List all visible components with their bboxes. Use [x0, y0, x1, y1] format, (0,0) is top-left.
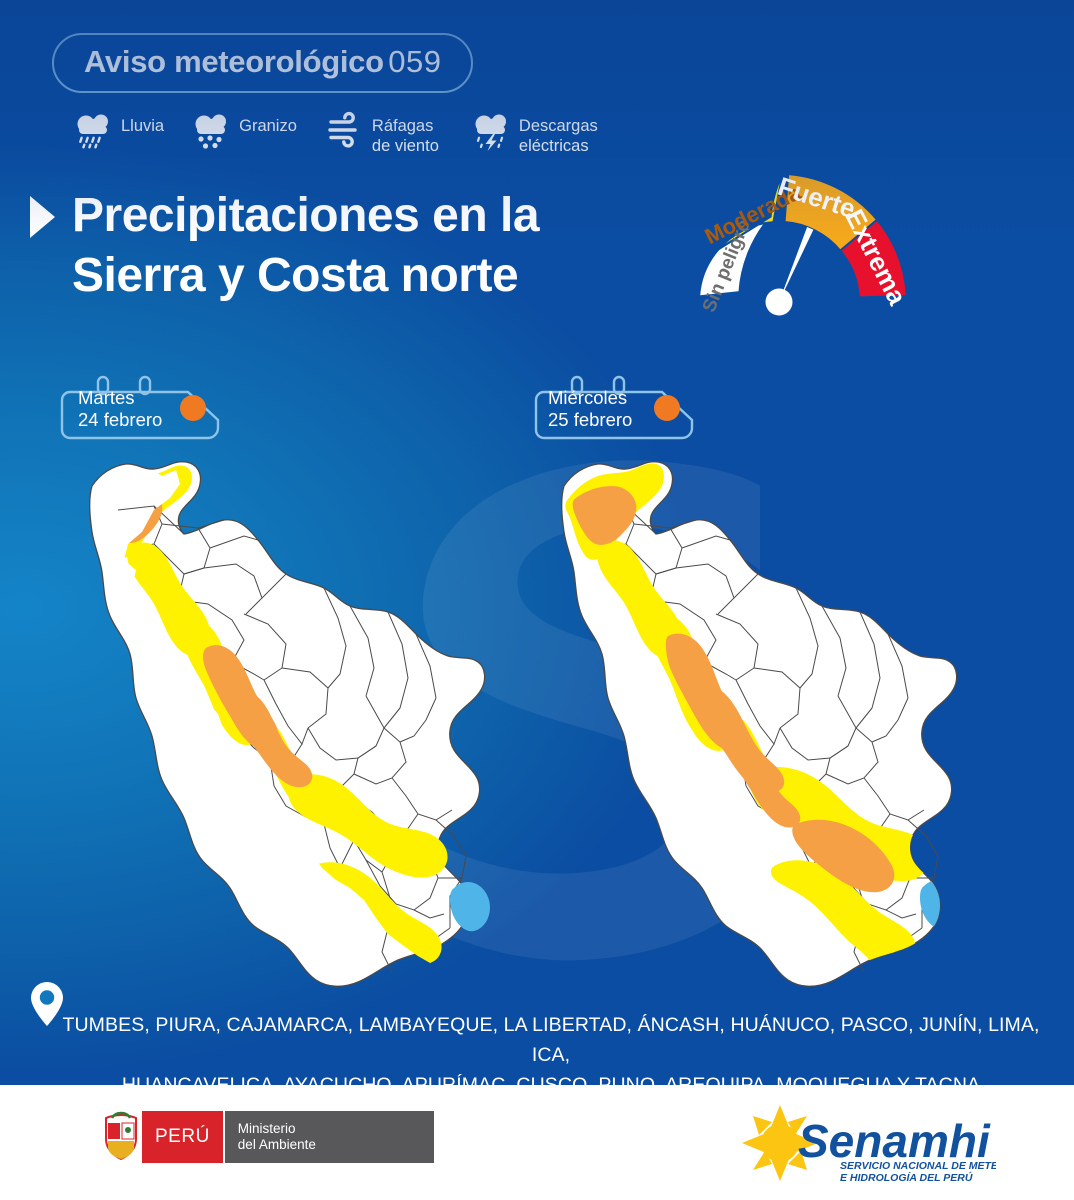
date-tag-text: Martes 24 febrero [78, 387, 162, 430]
advisory-number: 059 [388, 44, 441, 79]
lightning-cloud-icon [472, 111, 512, 151]
phenomenon-rafagas: Ráfagas de viento [325, 110, 444, 156]
footer-bar: PERÚ Ministerio del Ambiente [0, 1085, 1074, 1200]
ministry-line-1: Ministerio [238, 1121, 418, 1137]
date-tag-martes: Martes 24 febrero [60, 376, 223, 440]
date-label: 24 febrero [78, 409, 162, 430]
senamhi-logo: Senamhi SERVICIO NACIONAL DE METEOROLOGÍ… [736, 1099, 996, 1187]
phenomenon-label: Granizo [239, 116, 297, 136]
headline-line-1: Precipitaciones en la [72, 186, 652, 246]
gauge-needle [761, 223, 822, 320]
advisory-title-text: Aviso meteorológico [84, 44, 384, 79]
peru-wordmark: PERÚ [142, 1111, 223, 1163]
weekday-label: Miércoles [548, 387, 627, 408]
severity-gauge: Sin peligro Moderada Fuerte Extrema [592, 86, 1032, 326]
regions-line-2: HUANCAVELICA, AYACUCHO, APURÍMAC, CUSCO,… [56, 1070, 1046, 1085]
date-tag-text: Miércoles 25 febrero [548, 387, 632, 430]
rain-cloud-icon [74, 111, 114, 151]
peru-coat-of-arms-icon [100, 1111, 142, 1163]
senamhi-tagline-line-2: E HIDROLOGÍA DEL PERÚ [840, 1171, 973, 1184]
headline-arrow-icon [30, 196, 55, 238]
hail-cloud-icon [192, 111, 232, 151]
peru-map-martes [58, 448, 528, 1008]
weekday-label: Martes [78, 387, 135, 408]
phenomenon-granizo: Granizo [192, 110, 297, 151]
wind-gust-icon [325, 111, 365, 151]
phenomena-legend: Lluvia [74, 110, 643, 156]
senamhi-tagline-line-1: SERVICIO NACIONAL DE METEOROLOGÍA [840, 1159, 996, 1172]
ministry-wordmark: Ministerio del Ambiente [223, 1111, 434, 1163]
ministry-line-2: del Ambiente [238, 1137, 418, 1153]
phenomenon-label: Ráfagas de viento [372, 116, 444, 156]
advisory-title-pill: Aviso meteorológico 059 [52, 33, 473, 93]
main-blue-panel: Aviso meteorológico 059 [0, 0, 1074, 1085]
peru-government-logo: PERÚ Ministerio del Ambiente [100, 1111, 434, 1163]
date-tag-dot [654, 395, 680, 421]
date-tag-dot [180, 395, 206, 421]
phenomenon-lluvia: Lluvia [74, 110, 164, 151]
page-title: Precipitaciones en la Sierra y Costa nor… [72, 186, 652, 305]
affected-regions-list: TUMBES, PIURA, CAJAMARCA, LAMBAYEQUE, LA… [56, 1010, 1046, 1085]
regions-line-1: TUMBES, PIURA, CAJAMARCA, LAMBAYEQUE, LA… [62, 1014, 1039, 1066]
date-label: 25 febrero [548, 409, 632, 430]
phenomenon-label: Lluvia [121, 116, 164, 136]
peru-map-miercoles [530, 448, 1000, 1008]
headline-line-2: Sierra y Costa norte [72, 246, 652, 306]
weather-advisory-poster: Aviso meteorológico 059 [0, 0, 1074, 1200]
date-tag-miercoles: Miércoles 25 febrero [534, 376, 697, 440]
